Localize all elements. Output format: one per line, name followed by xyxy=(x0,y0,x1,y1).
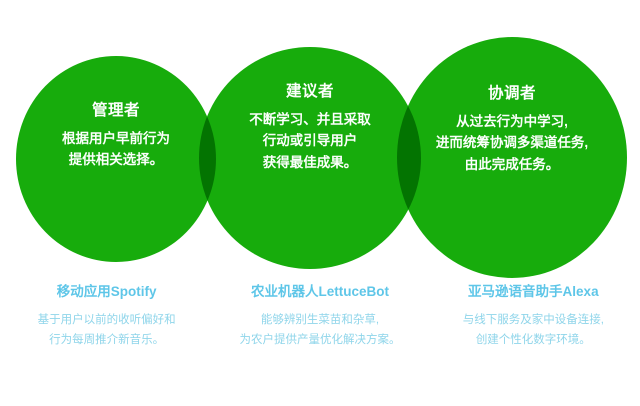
captions-group: 移动应用Spotify 基于用户以前的收听偏好和 行为每周推介新音乐。 农业机器… xyxy=(0,283,640,383)
circle-manager[interactable]: 管理者 根据用户早前行为 提供相关选择。 xyxy=(16,56,216,262)
circle-advisor-shape xyxy=(199,47,421,269)
caption-spotify-body-line-1: 基于用户以前的收听偏好和 xyxy=(6,310,207,330)
caption-spotify-title: 移动应用Spotify xyxy=(6,283,207,301)
caption-alexa-body-line-1: 与线下服务及家中设备连接, xyxy=(433,310,634,330)
caption-alexa-body-line-2: 创建个性化数字环境。 xyxy=(433,330,634,350)
caption-lettucebot-body-line-2: 为农户提供产量优化解决方案。 xyxy=(219,330,420,350)
circle-advisor[interactable]: 建议者 不断学习、并且采取 行动或引导用户 获得最佳成果。 xyxy=(199,47,421,269)
circle-coordinator[interactable]: 协调者 从过去行为中学习, 进而统筹协调多渠道任务, 由此完成任务。 xyxy=(397,37,627,278)
caption-spotify[interactable]: 移动应用Spotify 基于用户以前的收听偏好和 行为每周推介新音乐。 xyxy=(0,283,213,383)
infographic-canvas: 管理者 根据用户早前行为 提供相关选择。 建议者 不断学习、并且采取 行动或引导… xyxy=(0,0,640,406)
caption-alexa[interactable]: 亚马逊语音助手Alexa 与线下服务及家中设备连接, 创建个性化数字环境。 xyxy=(427,283,640,383)
circle-coordinator-shape xyxy=(397,37,627,278)
caption-alexa-body: 与线下服务及家中设备连接, 创建个性化数字环境。 xyxy=(433,310,634,350)
caption-lettucebot[interactable]: 农业机器人LettuceBot 能够辨别生菜苗和杂草, 为农户提供产量优化解决方… xyxy=(213,283,426,383)
caption-lettucebot-title: 农业机器人LettuceBot xyxy=(219,283,420,301)
caption-lettucebot-body-line-1: 能够辨别生菜苗和杂草, xyxy=(219,310,420,330)
venn-circles-group: 管理者 根据用户早前行为 提供相关选择。 建议者 不断学习、并且采取 行动或引导… xyxy=(0,0,640,300)
caption-spotify-body-line-2: 行为每周推介新音乐。 xyxy=(6,330,207,350)
caption-alexa-title: 亚马逊语音助手Alexa xyxy=(433,283,634,301)
caption-spotify-body: 基于用户以前的收听偏好和 行为每周推介新音乐。 xyxy=(6,310,207,350)
circle-manager-shape xyxy=(16,56,216,262)
caption-lettucebot-body: 能够辨别生菜苗和杂草, 为农户提供产量优化解决方案。 xyxy=(219,310,420,350)
